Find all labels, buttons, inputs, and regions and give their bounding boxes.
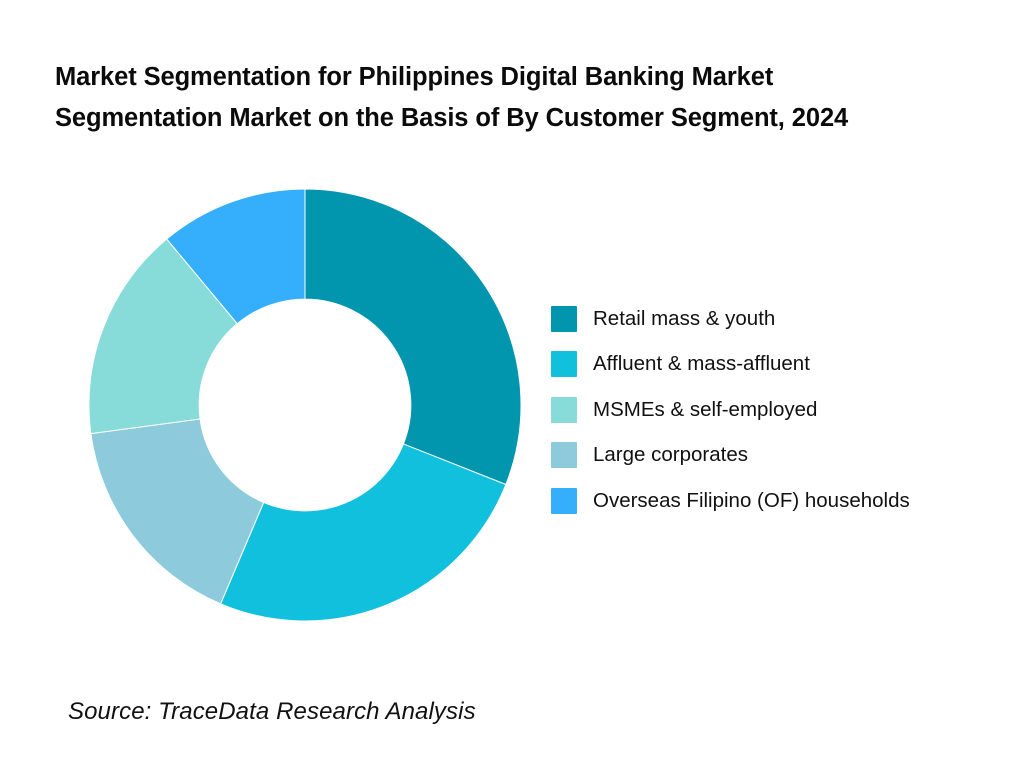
- legend-item[interactable]: Affluent & mass-affluent: [551, 342, 1001, 388]
- source-note: Source: TraceData Research Analysis: [68, 698, 476, 726]
- chart-page: Market Segmentation for Philippines Digi…: [0, 0, 1024, 768]
- donut-chart-svg: [89, 189, 521, 621]
- chart-title: Market Segmentation for Philippines Digi…: [55, 57, 935, 139]
- donut-slice[interactable]: [305, 189, 521, 485]
- legend-swatch-icon: [551, 442, 577, 468]
- chart-legend: Retail mass & youthAffluent & mass-afflu…: [551, 296, 1001, 524]
- donut-slice-group: [89, 189, 521, 621]
- donut-slice[interactable]: [221, 444, 506, 621]
- legend-item[interactable]: MSMEs & self-employed: [551, 387, 1001, 433]
- legend-item-label: Overseas Filipino (OF) households: [593, 489, 910, 513]
- donut-chart: [89, 189, 521, 621]
- legend-item[interactable]: Overseas Filipino (OF) households: [551, 478, 1001, 524]
- legend-item-label: Affluent & mass-affluent: [593, 352, 810, 376]
- legend-item[interactable]: Large corporates: [551, 433, 1001, 479]
- legend-swatch-icon: [551, 397, 577, 423]
- legend-swatch-icon: [551, 306, 577, 332]
- legend-item-label: MSMEs & self-employed: [593, 398, 817, 422]
- legend-item-label: Large corporates: [593, 443, 748, 467]
- legend-swatch-icon: [551, 351, 577, 377]
- legend-item[interactable]: Retail mass & youth: [551, 296, 1001, 342]
- legend-swatch-icon: [551, 488, 577, 514]
- legend-item-label: Retail mass & youth: [593, 307, 775, 331]
